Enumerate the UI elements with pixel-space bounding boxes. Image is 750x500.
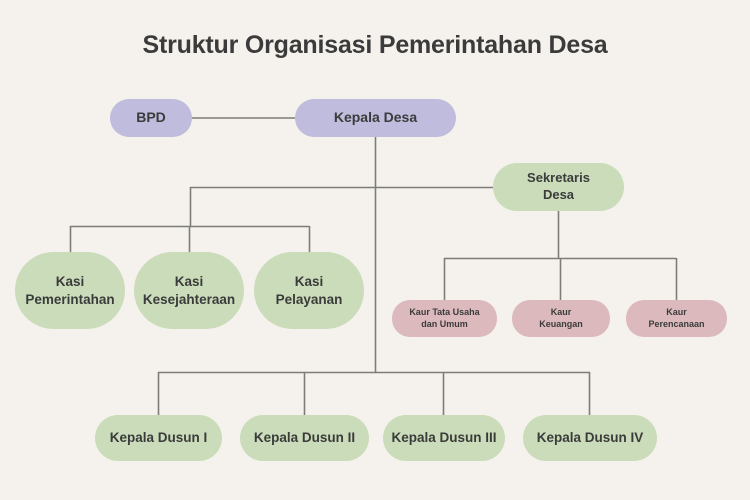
node-kaur-keuangan-label: Kaur Keuangan bbox=[539, 307, 583, 330]
node-kaur-tata-usaha-dan-umum[interactable]: Kaur Tata Usaha dan Umum bbox=[392, 300, 497, 337]
node-bpd-label: BPD bbox=[136, 109, 166, 127]
node-sekretaris-desa-label: Sekretaris Desa bbox=[527, 170, 590, 203]
node-kaur-tata-usaha-label: Kaur Tata Usaha dan Umum bbox=[409, 307, 479, 330]
node-kepala-desa[interactable]: Kepala Desa bbox=[295, 99, 456, 137]
node-kepala-dusun-3[interactable]: Kepala Dusun III bbox=[383, 415, 505, 461]
node-kasi-kesejahteraan[interactable]: Kasi Kesejahteraan bbox=[134, 252, 244, 329]
node-kasi-pelayanan[interactable]: Kasi Pelayanan bbox=[254, 252, 364, 329]
node-kepala-dusun-2-label: Kepala Dusun II bbox=[254, 429, 355, 446]
node-kepala-dusun-4-label: Kepala Dusun IV bbox=[537, 429, 644, 446]
node-kepala-dusun-1[interactable]: Kepala Dusun I bbox=[95, 415, 222, 461]
node-kepala-dusun-1-label: Kepala Dusun I bbox=[110, 429, 208, 446]
node-kasi-kesejahteraan-label: Kasi Kesejahteraan bbox=[143, 273, 235, 308]
node-sekretaris-desa[interactable]: Sekretaris Desa bbox=[493, 163, 624, 211]
node-bpd[interactable]: BPD bbox=[110, 99, 192, 137]
node-kaur-keuangan[interactable]: Kaur Keuangan bbox=[512, 300, 610, 337]
node-kaur-perencanaan-label: Kaur Perencanaan bbox=[648, 307, 704, 330]
node-kaur-perencanaan[interactable]: Kaur Perencanaan bbox=[626, 300, 727, 337]
node-kepala-dusun-4[interactable]: Kepala Dusun IV bbox=[523, 415, 657, 461]
node-kepala-dusun-2[interactable]: Kepala Dusun II bbox=[240, 415, 369, 461]
node-kepala-dusun-3-label: Kepala Dusun III bbox=[391, 429, 496, 446]
node-kasi-pemerintahan[interactable]: Kasi Pemerintahan bbox=[15, 252, 125, 329]
node-kasi-pemerintahan-label: Kasi Pemerintahan bbox=[25, 273, 114, 308]
node-kepala-desa-label: Kepala Desa bbox=[334, 109, 417, 127]
org-chart-canvas: Struktur Organisasi Pemerintahan Desa BP… bbox=[0, 0, 750, 500]
node-kasi-pelayanan-label: Kasi Pelayanan bbox=[276, 273, 343, 308]
